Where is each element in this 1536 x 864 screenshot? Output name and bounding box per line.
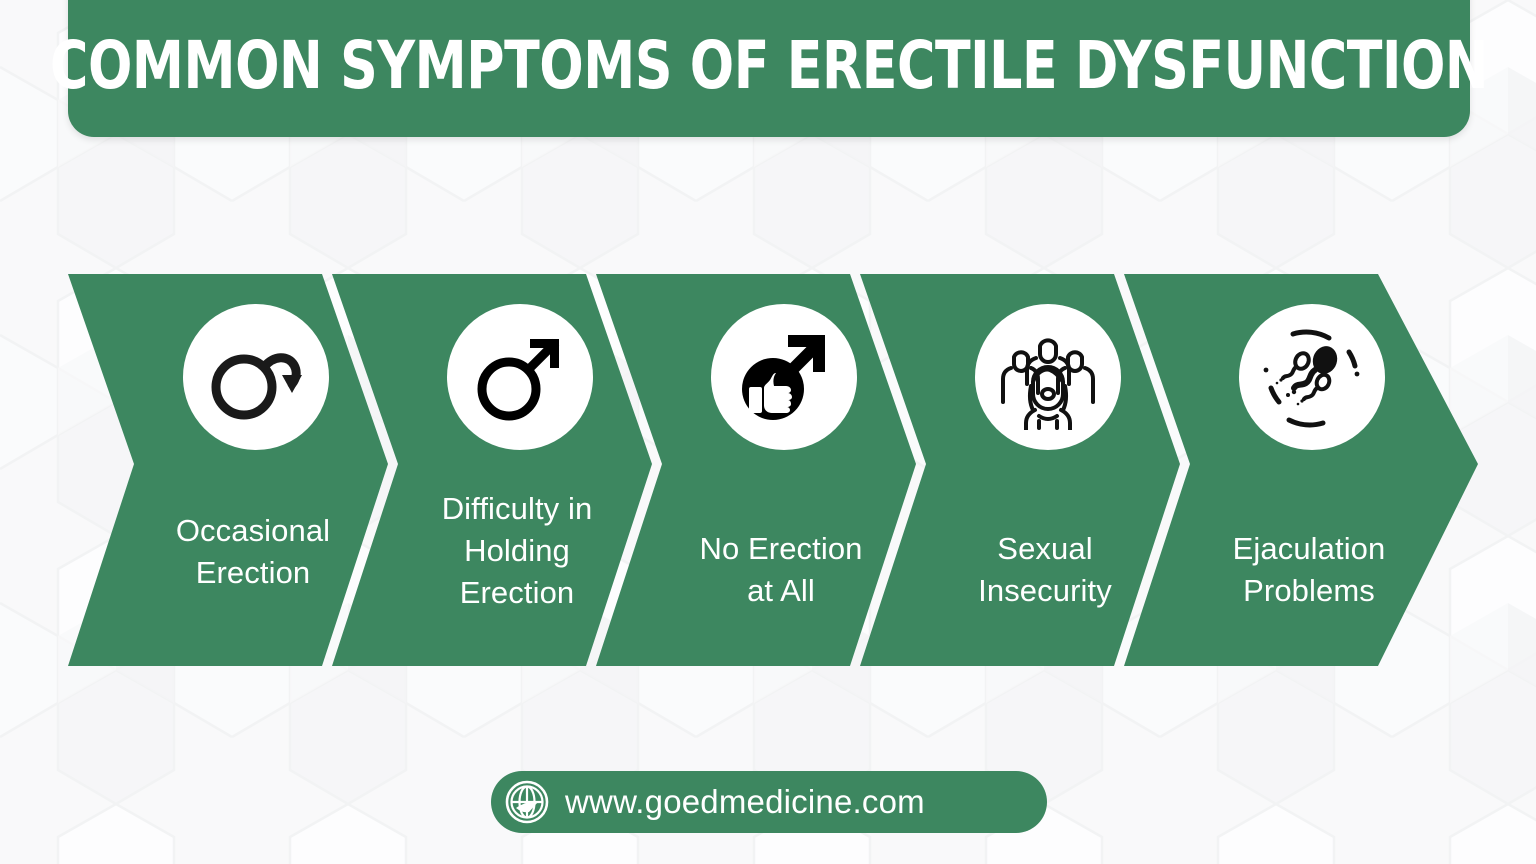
icon-circle-4 xyxy=(975,304,1121,450)
label-line: Erection xyxy=(412,572,622,614)
website-url[interactable]: www.goedmedicine.com xyxy=(565,783,925,821)
sperm-cells-icon xyxy=(1257,322,1367,432)
title-banner: COMMON SYMPTOMS OF ERECTILE DYSFUNCTION xyxy=(68,0,1470,137)
label-line: Holding xyxy=(412,530,622,572)
male-symbol-thumbs-up-icon xyxy=(732,325,836,429)
label-line: Difficulty in xyxy=(412,488,622,530)
icon-circle-2 xyxy=(447,304,593,450)
label-line: at All xyxy=(676,570,886,612)
male-symbol-drooping-arrow-icon xyxy=(204,325,308,429)
icon-circle-3 xyxy=(711,304,857,450)
symptom-label-2: Difficulty in Holding Erection xyxy=(412,488,622,614)
label-line: Insecurity xyxy=(940,570,1150,612)
label-line: Occasional xyxy=(148,510,358,552)
group-of-people-icon xyxy=(995,324,1101,430)
label-line: No Erection xyxy=(676,528,886,570)
label-line: Problems xyxy=(1204,570,1414,612)
icon-circle-1 xyxy=(183,304,329,450)
label-line: Erection xyxy=(148,552,358,594)
website-footer-pill[interactable]: www.goedmedicine.com xyxy=(491,771,1047,833)
symptom-label-1: Occasional Erection xyxy=(148,510,358,594)
globe-icon xyxy=(505,780,549,824)
label-line: Sexual xyxy=(940,528,1150,570)
label-line: Ejaculation xyxy=(1204,528,1414,570)
infographic-canvas: COMMON SYMPTOMS OF ERECTILE DYSFUNCTION xyxy=(0,0,1536,864)
page-title: COMMON SYMPTOMS OF ERECTILE DYSFUNCTION xyxy=(50,33,1488,99)
symptom-label-3: No Erection at All xyxy=(676,528,886,612)
male-symbol-icon xyxy=(468,325,572,429)
symptom-label-4: Sexual Insecurity xyxy=(940,528,1150,612)
symptom-chevron-band: Occasional Erection Difficulty in Holdin… xyxy=(0,274,1536,666)
symptom-label-5: Ejaculation Problems xyxy=(1204,528,1414,612)
icon-circle-5 xyxy=(1239,304,1385,450)
